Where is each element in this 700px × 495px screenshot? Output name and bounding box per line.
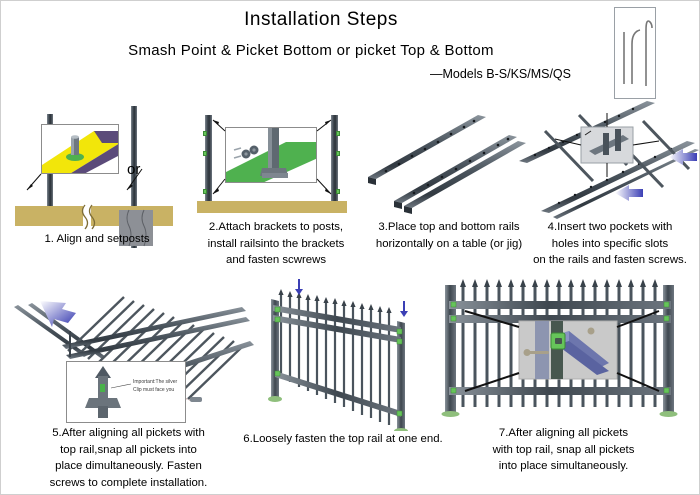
page-subtitle: Smash Point & Picket Bottom or picket To… xyxy=(1,42,621,59)
step-7-diagram xyxy=(431,279,696,424)
header: Installation Steps Smash Point & Picket … xyxy=(1,1,700,101)
down-arrow-right xyxy=(400,301,408,317)
step-1-diagram: or xyxy=(7,106,187,221)
step-3-caption: 3.Place top and bottom rails horizontall… xyxy=(359,219,539,252)
diagram-sheet: Installation Steps Smash Point & Picket … xyxy=(0,0,700,495)
inset-note-1: Important:The silver xyxy=(133,379,178,385)
step-4-caption: 4.Insert two pockets with holes into spe… xyxy=(521,219,699,269)
company-logo xyxy=(614,7,656,99)
inset-note-2: Clip must face you xyxy=(133,387,174,393)
step-5-diagram: Important:The silver Clip must face you xyxy=(6,279,256,424)
step-5-caption: 5.After aligning all pickets with top ra… xyxy=(6,425,251,491)
page-title: Installation Steps xyxy=(1,9,641,31)
rails-svg xyxy=(366,109,541,214)
step-4-diagram xyxy=(519,101,699,216)
step-2-caption: 2.Attach brackets to posts, install rail… xyxy=(186,219,366,269)
step-7-caption: 7.After aligning all pickets with top ra… xyxy=(436,425,691,475)
down-arrow-left xyxy=(295,279,303,295)
logo-icon xyxy=(615,8,655,98)
fence-front-svg xyxy=(431,279,696,424)
step-2-diagram xyxy=(191,109,361,214)
step-6-caption: 6.Loosely fasten the top rail at one end… xyxy=(243,431,443,448)
step-2-leaders xyxy=(191,109,361,214)
or-label: or xyxy=(127,161,140,178)
pockets-svg xyxy=(519,101,699,219)
step-1-caption: 1. Align and setposts xyxy=(7,231,187,248)
step-3-diagram xyxy=(366,109,541,214)
models-label: —Models B-S/KS/MS/QS xyxy=(1,67,571,81)
fence-perspective-svg xyxy=(249,279,429,431)
step-1-leaders xyxy=(7,106,187,236)
step-5-inset: Important:The silver Clip must face you xyxy=(66,361,186,423)
step-6-diagram xyxy=(249,279,429,429)
